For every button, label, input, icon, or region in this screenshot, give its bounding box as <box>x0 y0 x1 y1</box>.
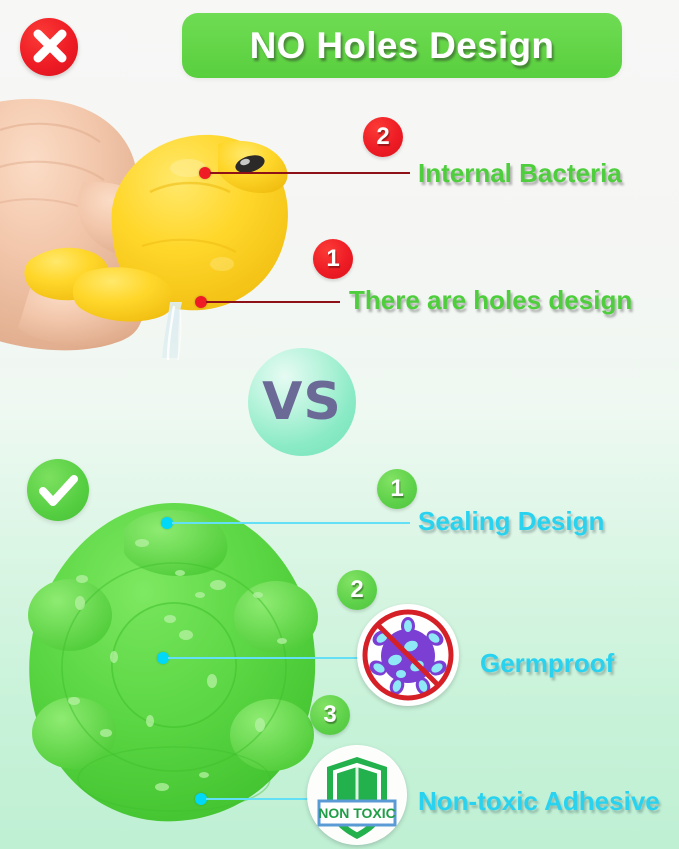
callout-number-1-good: 1 <box>377 469 417 509</box>
callout-label-sealing-design: Sealing Design <box>418 506 604 537</box>
non-toxic-shield-icon: NON TOXIC <box>307 745 407 845</box>
good-product-photo <box>14 495 334 840</box>
callout-label-internal-bacteria: Internal Bacteria <box>418 158 622 189</box>
callout-line-internal-bacteria <box>210 172 410 174</box>
callout-line-holes-design <box>206 301 340 303</box>
red-cross-icon <box>20 18 78 76</box>
callout-line-germproof <box>168 657 363 659</box>
vs-label: VS <box>262 372 342 432</box>
callout-number-3-good: 3 <box>310 695 350 735</box>
callout-number-2-bad: 2 <box>363 117 403 157</box>
vs-badge: VS <box>248 348 356 456</box>
no-germs-icon <box>357 604 459 706</box>
infographic-root: NO Holes Design 2 Internal Bacteria 1 Th… <box>0 0 679 849</box>
title-banner: NO Holes Design <box>182 13 622 78</box>
callout-label-holes-design: There are holes design <box>349 285 632 316</box>
callout-number-1-bad: 1 <box>313 239 353 279</box>
shield-badge-text: NON TOXIC <box>318 805 396 821</box>
green-check-icon <box>27 459 89 521</box>
bad-product-photo <box>0 96 302 361</box>
callout-label-non-toxic: Non-toxic Adhesive <box>418 786 660 817</box>
callout-line-non-toxic <box>206 798 310 800</box>
callout-line-sealing-design <box>172 522 410 524</box>
page-title: NO Holes Design <box>250 25 555 67</box>
callout-label-germproof: Germproof <box>480 648 614 679</box>
